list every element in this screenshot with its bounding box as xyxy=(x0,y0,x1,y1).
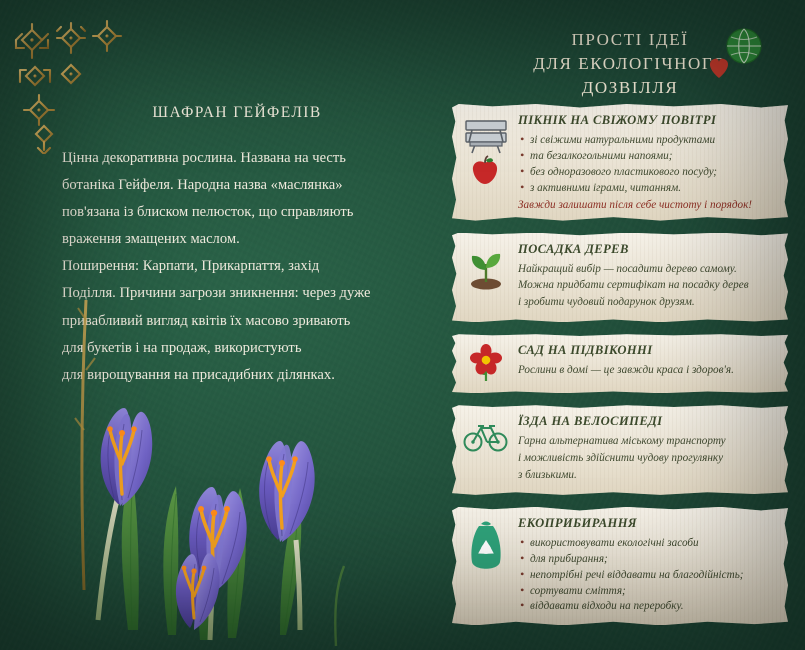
card-bullets: зі свіжими натуральними продуктами •та б… xyxy=(518,133,777,196)
card-title: ПОСАДКА ДЕРЕВ xyxy=(518,242,777,257)
heart-icon xyxy=(710,59,728,78)
globe-icon xyxy=(727,29,761,63)
description-line: пов'язана із блиском пелюсток, що справл… xyxy=(62,200,412,225)
eco-globe-heart-icons xyxy=(703,26,773,96)
card-text-line: з близькими. xyxy=(518,468,777,483)
crocus-illustration xyxy=(0,290,420,650)
description-line: Поширення: Карпати, Прикарпаття, захід xyxy=(62,254,412,279)
bullet-item: сортувати сміття; xyxy=(530,584,777,599)
bullet-item: непотрібні речі віддавати на благодійніс… xyxy=(530,568,777,583)
card-title: ЇЗДА НА ВЕЛОСИПЕДІ xyxy=(518,414,777,429)
flower-icon xyxy=(463,343,509,383)
bullet-item: зі свіжими натуральними продуктами xyxy=(530,133,777,148)
description-line: враження змащених маслом. xyxy=(62,227,412,252)
picnic-bench-icon xyxy=(463,113,509,185)
card-title: ЕКОПРИБИРАННЯ xyxy=(518,516,777,531)
card-picnic[interactable]: ПІКНІК НА СВІЖОМУ ПОВІТРІ зі свіжими нат… xyxy=(452,104,788,221)
card-text-line: Можна придбати сертифікат на посадку дер… xyxy=(518,278,777,293)
card-text-line: Найкращий вибір — посадити дерево самому… xyxy=(518,262,777,277)
poster-page: ШАФРАН ГЕЙФЕЛІВ Цінна декоративна рослин… xyxy=(0,0,805,650)
card-title: ПІКНІК НА СВІЖОМУ ПОВІТРІ xyxy=(518,113,777,128)
card-windowsill-garden[interactable]: САД НА ПІДВІКОННІ Рослини в домі — це за… xyxy=(452,334,788,393)
card-text-line: і зробити чудовий подарунок друзям. xyxy=(518,295,777,310)
card-text-line: Гарна альтернатива міському транспорту xyxy=(518,434,777,449)
card-tree-planting[interactable]: ПОСАДКА ДЕРЕВ Найкращий вибір — посадити… xyxy=(452,233,788,323)
bullet-item: з активними іграми, читанням. xyxy=(530,181,777,196)
description-line: Цінна декоративна рослина. Названа на че… xyxy=(62,146,412,171)
card-text-line: і можливість здійснити чудову прогулянку xyxy=(518,451,777,466)
card-bicycle[interactable]: ЇЗДА НА ВЕЛОСИПЕДІ Гарна альтернатива мі… xyxy=(452,405,788,495)
recycle-bag-icon xyxy=(463,516,509,578)
eco-ideas-list: ПІКНІК НА СВІЖОМУ ПОВІТРІ зі свіжими нат… xyxy=(452,104,788,637)
bullet-item: без одноразового пластикового посуду; xyxy=(530,165,777,180)
bicycle-icon xyxy=(463,414,509,458)
card-eco-cleaning[interactable]: ЕКОПРИБИРАННЯ використовувати екологічні… xyxy=(452,507,788,625)
card-bullets: використовувати екологічні засоби •для п… xyxy=(518,536,777,614)
bullet-item: віддавати відходи на переробку. xyxy=(530,599,777,614)
apple-icon xyxy=(473,156,497,184)
sapling-icon xyxy=(463,242,509,292)
bullet-item: використовувати екологічні засоби xyxy=(530,536,777,551)
card-accent-note: Завжди залишати після себе чистоту і пор… xyxy=(518,199,777,211)
bullet-continuation: •для прибирання; xyxy=(530,552,777,567)
card-text-line: Рослини в домі — це завжди краса і здоро… xyxy=(518,363,777,378)
bullet-continuation: •та безалкогольними напоями; xyxy=(530,149,777,164)
page-title: ШАФРАН ГЕЙФЕЛІВ xyxy=(62,104,412,122)
description-line: ботаніка Гейфеля. Народна назва «маслянк… xyxy=(62,173,412,198)
card-title: САД НА ПІДВІКОННІ xyxy=(518,343,777,358)
